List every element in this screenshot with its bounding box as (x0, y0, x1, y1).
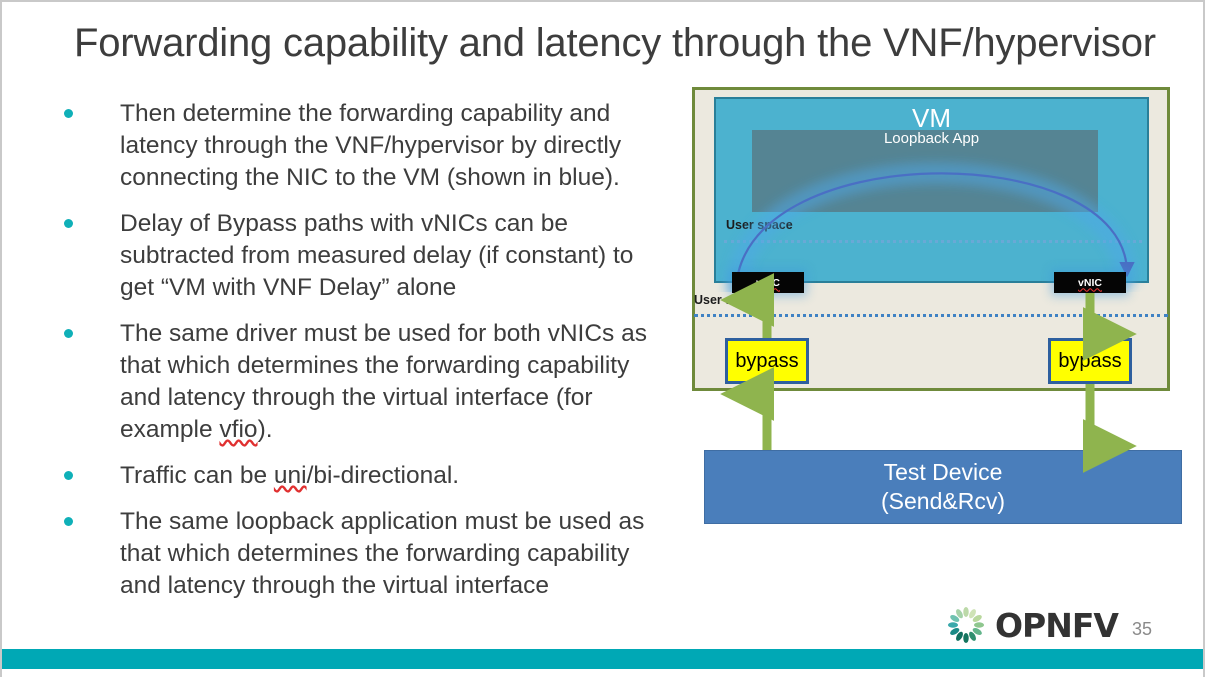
bullet-dot-icon (64, 471, 73, 480)
vm-kernel-boundary-divider (724, 240, 1142, 243)
list-item: Traffic can be uni/bi-directional. (64, 460, 664, 492)
page-title: Forwarding capability and latency throug… (74, 18, 1184, 68)
list-item: The same driver must be used for both vN… (64, 318, 664, 446)
loopback-app-label: Loopback App (716, 130, 1147, 147)
opnfv-petal-icon (945, 604, 987, 646)
vm-user-space-label: User space (726, 218, 793, 232)
host-user-space-label: User space (694, 293, 761, 307)
bypass-right-box: bypass (1048, 338, 1132, 384)
bullet-text: Delay of Bypass paths with vNICs can be … (120, 208, 664, 304)
bullet-dot-icon (64, 329, 73, 338)
bullet-text: Traffic can be uni/bi-directional. (120, 460, 664, 492)
bullet-dot-icon (64, 219, 73, 228)
opnfv-logo: OPNFV (945, 604, 1118, 646)
test-device-line1: Test Device (884, 458, 1003, 487)
host-kernel-boundary-divider (694, 314, 1168, 317)
bullet-text: Then determine the forwarding capability… (120, 98, 664, 194)
opnfv-wordmark: OPNFV (995, 606, 1118, 645)
vm-label: VM (716, 103, 1147, 133)
list-item: Delay of Bypass paths with vNICs can be … (64, 208, 664, 304)
bullet-text: The same driver must be used for both vN… (120, 318, 664, 446)
bullet-list: Then determine the forwarding capability… (64, 98, 664, 616)
footer-accent-bar (2, 649, 1205, 669)
vnic-left-box: vNIC (732, 272, 804, 293)
vnic-right-box: vNIC (1054, 272, 1126, 293)
vnic-right-label: vNIC (1078, 277, 1102, 289)
test-device-box: Test Device (Send&Rcv) (704, 450, 1182, 524)
list-item: The same loopback application must be us… (64, 506, 664, 602)
bullet-dot-icon (64, 517, 73, 526)
vm-panel: VM Loopback App User space (714, 97, 1149, 283)
bullet-dot-icon (64, 109, 73, 118)
page-number: 35 (1132, 619, 1152, 640)
test-device-line2: (Send&Rcv) (881, 487, 1005, 516)
slide: Forwarding capability and latency throug… (0, 0, 1205, 677)
bypass-left-box: bypass (725, 338, 809, 384)
vnic-left-label: vNIC (756, 277, 780, 289)
bullet-text: The same loopback application must be us… (120, 506, 664, 602)
list-item: Then determine the forwarding capability… (64, 98, 664, 194)
